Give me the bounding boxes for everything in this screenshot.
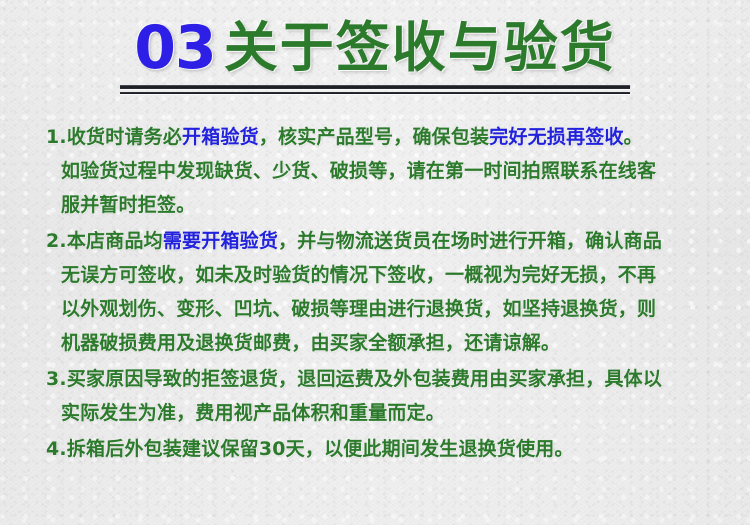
body-text: 2.本店商品均 xyxy=(46,230,163,252)
body-text: 。 xyxy=(624,126,643,148)
list-item-line: 实际发生为准，费用视产品体积和重量而定。 xyxy=(46,396,724,430)
body-text: 无误方可签收，如未及时验货的情况下签收，一概视为完好无损，不再 xyxy=(61,264,656,286)
body-text: ，并与物流送货员在场时进行开箱，确认商品 xyxy=(278,230,662,252)
body-text: 如验货过程中发现缺货、少货、破损等，请在第一时间拍照联系在线客 xyxy=(61,160,656,182)
list-item-line: 如验货过程中发现缺货、少货、破损等，请在第一时间拍照联系在线客 xyxy=(46,154,724,188)
list-item-line: 以外观划伤、变形、凹坑、破损等理由进行退换货，如坚持退换货，则 xyxy=(46,292,724,326)
title-divider xyxy=(120,85,630,94)
page-title: 03关于签收与验货 xyxy=(0,18,750,78)
list-item: 3.买家原因导致的拒签退货，退回运费及外包装费用由买家承担，具体以实际发生为准，… xyxy=(46,362,724,430)
list-item-line: 无误方可签收，如未及时验货的情况下签收，一概视为完好无损，不再 xyxy=(46,258,724,292)
list-item: 2.本店商品均需要开箱验货，并与物流送货员在场时进行开箱，确认商品无误方可签收，… xyxy=(46,224,724,360)
section-title-text: 关于签收与验货 xyxy=(224,16,616,79)
list-item-line: 2.本店商品均需要开箱验货，并与物流送货员在场时进行开箱，确认商品 xyxy=(46,224,724,258)
body-text: 1.收货时请务必 xyxy=(46,126,182,148)
list-item-line: 4.拆箱后外包装建议保留30天，以便此期间发生退换货使用。 xyxy=(46,432,724,466)
divider-rule-thin xyxy=(120,92,630,94)
notice-page: 03关于签收与验货 1.收货时请务必开箱验货，核实产品型号，确保包装完好无损再签… xyxy=(0,0,750,525)
body-text: 4.拆箱后外包装建议保留30天，以便此期间发生退换货使用。 xyxy=(46,438,574,460)
list-item: 1.收货时请务必开箱验货，核实产品型号，确保包装完好无损再签收。如验货过程中发现… xyxy=(46,120,724,222)
highlighted-text: 开箱验货 xyxy=(182,126,259,148)
list-item-line: 3.买家原因导致的拒签退货，退回运费及外包装费用由买家承担，具体以 xyxy=(46,362,724,396)
list-item: 4.拆箱后外包装建议保留30天，以便此期间发生退换货使用。 xyxy=(46,432,724,466)
list-item-line: 机器破损费用及退换货邮费，由买家全额承担，还请谅解。 xyxy=(46,326,724,360)
list-item-line: 服并暂时拒签。 xyxy=(46,188,724,222)
list-item-line: 1.收货时请务必开箱验货，核实产品型号，确保包装完好无损再签收。 xyxy=(46,120,724,154)
body-text: 实际发生为准，费用视产品体积和重量而定。 xyxy=(61,402,445,424)
body-text: 3.买家原因导致的拒签退货，退回运费及外包装费用由买家承担，具体以 xyxy=(46,368,662,390)
section-number: 03 xyxy=(134,13,216,83)
body-text: 以外观划伤、变形、凹坑、破损等理由进行退换货，如坚持退换货，则 xyxy=(61,298,656,320)
notice-list: 1.收货时请务必开箱验货，核实产品型号，确保包装完好无损再签收。如验货过程中发现… xyxy=(0,120,750,466)
body-text: 机器破损费用及退换货邮费，由买家全额承担，还请谅解。 xyxy=(61,332,560,354)
highlighted-text: 完好无损再签收 xyxy=(489,126,623,148)
body-text: 服并暂时拒签。 xyxy=(61,194,195,216)
page-header: 03关于签收与验货 xyxy=(0,0,750,78)
highlighted-text: 需要开箱验货 xyxy=(163,230,278,252)
body-text: ，核实产品型号，确保包装 xyxy=(259,126,489,148)
divider-rule-thick xyxy=(120,85,630,89)
